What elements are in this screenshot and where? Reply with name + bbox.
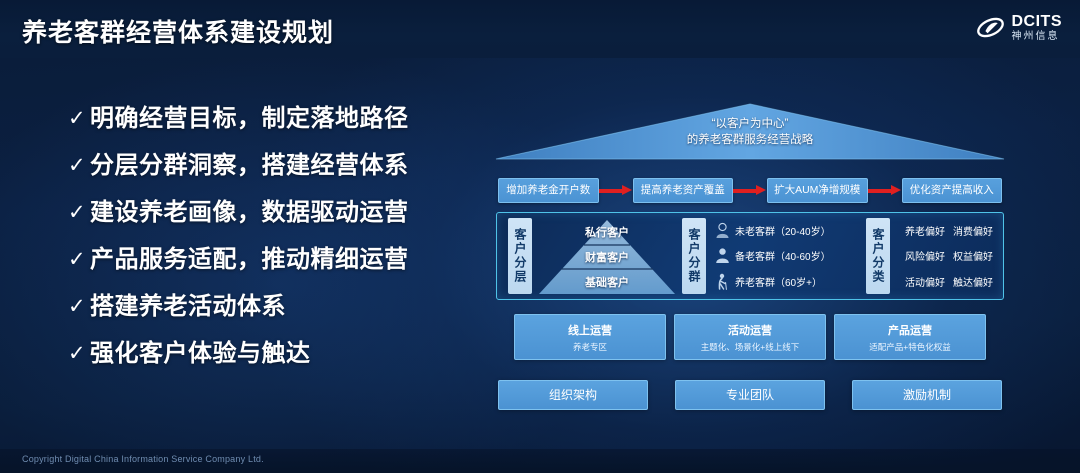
roof-line-2: 的养老客群服务经营战略 xyxy=(492,132,1008,148)
group-label-1: 未老客群（20-40岁） xyxy=(735,223,831,238)
operation-title: 线上运营 xyxy=(568,322,612,338)
list-item-label: 明确经营目标，制定落地路径 xyxy=(90,104,409,134)
category-item: 消费偏好 xyxy=(953,223,993,238)
operation-title: 产品运营 xyxy=(888,322,932,338)
foundation-box-1[interactable]: 组织架构 xyxy=(498,380,648,410)
goal-box-4[interactable]: 优化资产提高收入 xyxy=(902,178,1003,203)
slide-header: 养老客群经营体系建设规划 DCITS 神州信息 xyxy=(0,0,1080,58)
roof-text: “以客户为中心” 的养老客群服务经营战略 xyxy=(492,116,1008,148)
list-item: ✓ 搭建养老活动体系 xyxy=(68,292,468,322)
list-item: 未老客群（20-40岁） xyxy=(715,222,861,239)
page-title: 养老客群经营体系建设规划 xyxy=(22,13,334,49)
brand-logo: DCITS 神州信息 xyxy=(976,13,1063,42)
list-item: ✓ 强化客户体验与触达 xyxy=(68,339,468,369)
group-label-2: 备老客群（40-60岁） xyxy=(735,248,831,263)
operation-subtitle: 养老专区 xyxy=(573,341,607,353)
goal-chain: 增加养老金开户数 提高养老资产覆盖 扩大AUM净增规模 优化资产提高收入 xyxy=(498,178,1002,202)
operation-card-2[interactable]: 活动运营 主题化、场景化+线上线下 xyxy=(674,314,826,360)
list-item: ✓ 明确经营目标，制定落地路径 xyxy=(68,104,468,134)
dcits-swoosh-icon xyxy=(976,13,1005,42)
tier-item-2: 财富客户 xyxy=(537,249,677,265)
list-item: ✓ 产品服务适配，推动精细运营 xyxy=(68,245,468,275)
logo-en-text: DCITS xyxy=(1012,14,1063,30)
slide-canvas: 养老客群经营体系建设规划 DCITS 神州信息 ✓ 明确经营目标，制定落地路径 … xyxy=(0,0,1080,473)
customer-group-list: 未老客群（20-40岁） 备老客群（40-60岁） xyxy=(711,218,861,294)
tier-item-1: 私行客户 xyxy=(537,224,677,240)
strategy-roof: “以客户为中心” 的养老客群服务经营战略 xyxy=(492,96,1008,168)
check-icon: ✓ xyxy=(68,198,90,228)
list-item: ✓ 分层分群洞察，搭建经营体系 xyxy=(68,151,468,181)
logo-cn-text: 神州信息 xyxy=(1012,32,1063,42)
list-item: 备老客群（40-60岁） xyxy=(715,247,861,264)
arrow-right-icon xyxy=(868,185,902,195)
check-icon: ✓ xyxy=(68,339,90,369)
elderly-person-icon xyxy=(715,273,730,290)
strategy-diagram: “以客户为中心” 的养老客群服务经营战略 增加养老金开户数 提高养老资产覆盖 扩… xyxy=(492,96,1008,426)
operation-card-3[interactable]: 产品运营 适配产品+特色化权益 xyxy=(834,314,986,360)
list-item-label: 搭建养老活动体系 xyxy=(90,292,286,322)
foundation-row: 组织架构 专业团队 激励机制 xyxy=(498,380,1002,410)
young-person-icon xyxy=(715,222,730,239)
list-item: 养老客群（60岁+） xyxy=(715,273,861,290)
category-item: 活动偏好 xyxy=(905,274,945,289)
copyright-text: Copyright Digital China Information Serv… xyxy=(22,454,264,464)
group-label-3: 养老客群（60岁+） xyxy=(735,274,822,289)
goal-box-1[interactable]: 增加养老金开户数 xyxy=(498,178,599,203)
goal-box-2[interactable]: 提高养老资产覆盖 xyxy=(633,178,734,203)
operations-row: 线上运营 养老专区 活动运营 主题化、场景化+线上线下 产品运营 适配产品+特色… xyxy=(514,314,986,360)
tier-item-3: 基础客户 xyxy=(537,274,677,290)
operation-card-1[interactable]: 线上运营 养老专区 xyxy=(514,314,666,360)
operation-subtitle: 适配产品+特色化权益 xyxy=(869,341,950,353)
list-item-label: 产品服务适配，推动精细运营 xyxy=(90,245,409,275)
category-item: 养老偏好 xyxy=(905,223,945,238)
foundation-box-2[interactable]: 专业团队 xyxy=(675,380,825,410)
list-item: ✓ 建设养老画像，数据驱动运营 xyxy=(68,198,468,228)
tier-label: 客户分层 xyxy=(508,218,532,294)
list-item-label: 建设养老画像，数据驱动运营 xyxy=(90,198,409,228)
check-icon: ✓ xyxy=(68,104,90,134)
arrow-right-icon xyxy=(599,185,633,195)
operation-title: 活动运营 xyxy=(728,322,772,338)
category-item: 触达偏好 xyxy=(953,274,993,289)
group-label: 客户分群 xyxy=(682,218,706,294)
check-icon: ✓ xyxy=(68,292,90,322)
check-icon: ✓ xyxy=(68,151,90,181)
customer-segmentation-panel: 客户分层 私行客户 财富客户 基础客户 客户分群 xyxy=(496,212,1004,300)
check-icon: ✓ xyxy=(68,245,90,275)
logo-text-block: DCITS 神州信息 xyxy=(1012,14,1063,42)
roof-line-1: “以客户为中心” xyxy=(492,116,1008,132)
operation-subtitle: 主题化、场景化+线上线下 xyxy=(701,341,799,353)
goal-box-3[interactable]: 扩大AUM净增规模 xyxy=(767,178,868,203)
customer-category-grid: 养老偏好 消费偏好 风险偏好 权益偏好 活动偏好 触达偏好 xyxy=(895,218,997,294)
arrow-right-icon xyxy=(733,185,767,195)
customer-tier-pyramid: 私行客户 财富客户 基础客户 xyxy=(537,218,677,296)
slide-footer: Copyright Digital China Information Serv… xyxy=(0,449,1080,473)
list-item-label: 分层分群洞察，搭建经营体系 xyxy=(90,151,409,181)
category-item: 风险偏好 xyxy=(905,248,945,263)
list-item-label: 强化客户体验与触达 xyxy=(90,339,311,369)
foundation-box-3[interactable]: 激励机制 xyxy=(852,380,1002,410)
adult-person-icon xyxy=(715,247,730,264)
category-label: 客户分类 xyxy=(866,218,890,294)
category-item: 权益偏好 xyxy=(953,248,993,263)
key-points-list: ✓ 明确经营目标，制定落地路径 ✓ 分层分群洞察，搭建经营体系 ✓ 建设养老画像… xyxy=(68,104,468,386)
